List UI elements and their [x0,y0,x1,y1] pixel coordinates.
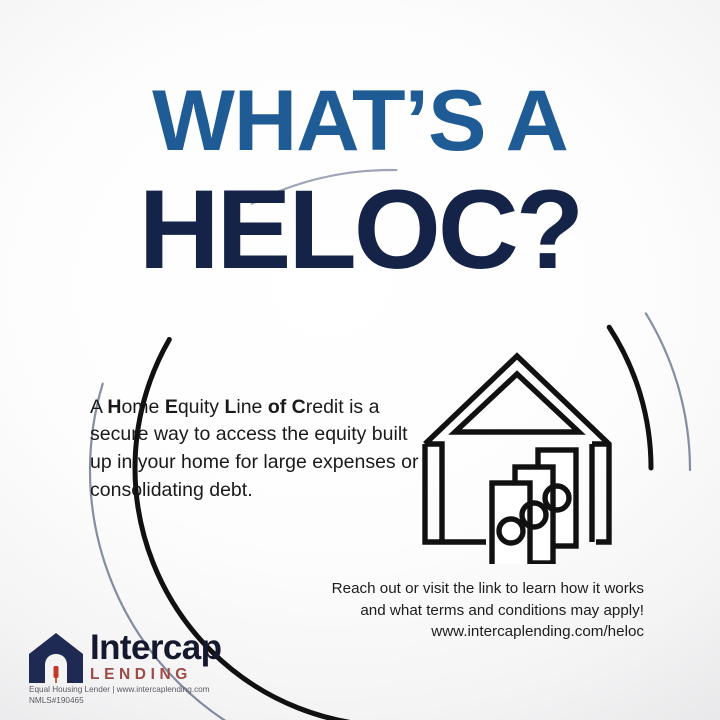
body-seg-1: quity [178,396,225,418]
acronym-letter-c: C [292,396,306,418]
body-seg-2: ine [236,396,267,418]
logo-brand-tagline: LENDING [90,667,221,683]
logo-wordmark: Intercap LENDING [90,630,221,683]
body-seg-0: ome [121,396,164,418]
house-with-money-icon [412,334,642,564]
logo-key-stem-icon [55,676,57,683]
fineprint-nmls: NMLS#190465 [29,695,210,706]
fineprint-equal-housing: Equal Housing Lender | www.intercaplendi… [29,684,210,695]
call-to-action: Reach out or visit the link to learn how… [244,578,644,643]
cta-line-1: Reach out or visit the link to learn how… [332,580,644,597]
logo-brand-name: Intercap [90,630,221,665]
headline-line-2: HELOC? [0,178,720,281]
acronym-word-of: of [268,396,286,418]
headline-line-1: WHAT’S A [0,82,720,161]
acronym-letter-l: L [224,396,236,418]
cta-website-url[interactable]: www.intercaplending.com/heloc [244,621,644,643]
body-paragraph: A Home Equity Line of Credit is a secure… [90,394,430,505]
logo-legal-fineprint: Equal Housing Lender | www.intercaplendi… [29,684,210,706]
cta-line-2: and what terms and conditions may apply! [360,602,644,619]
brand-logo-lockup[interactable]: Intercap LENDING Equal Housing Lender | … [28,632,258,708]
intercap-house-logo-icon [28,632,84,684]
heloc-promo-graphic: WHAT’S A HELOC? A Home Equity Line of Cr… [0,0,720,720]
acronym-letter-h: H [107,396,121,418]
house-roof-inner-icon [455,374,579,432]
body-prefix: A [90,396,107,418]
acronym-letter-e: E [165,396,178,418]
